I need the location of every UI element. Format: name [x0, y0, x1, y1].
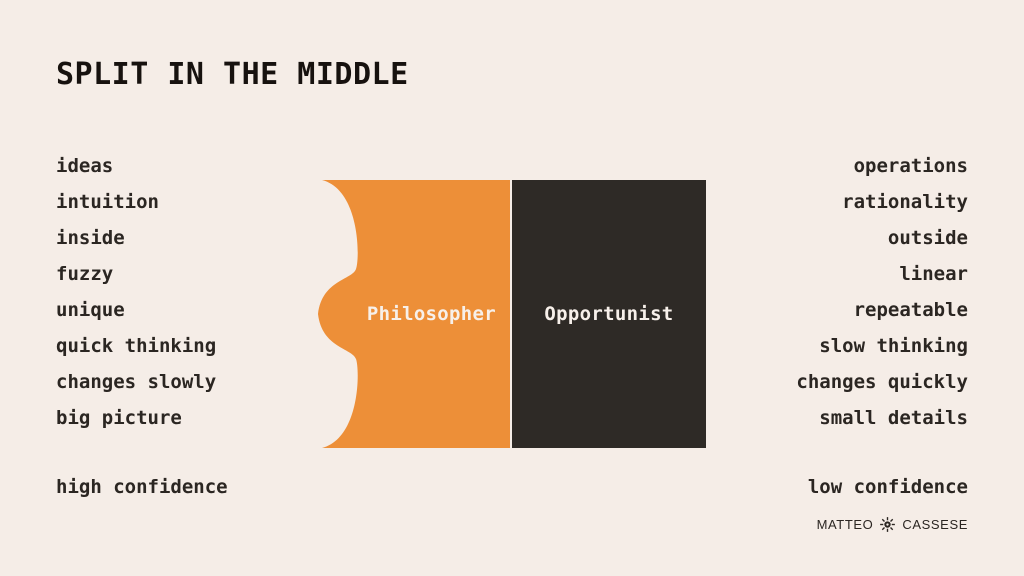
list-item: inside — [56, 220, 216, 256]
list-item: changes quickly — [796, 364, 968, 400]
philosopher-label: Philosopher — [367, 303, 496, 325]
sunburst-icon — [880, 517, 895, 532]
list-item: unique — [56, 292, 216, 328]
left-attribute-list: ideas intuition inside fuzzy unique quic… — [56, 148, 216, 436]
split-diagram: Philosopher Opportunist — [316, 180, 708, 448]
right-attribute-list: operations rationality outside linear re… — [796, 148, 968, 436]
list-item: intuition — [56, 184, 216, 220]
slide-canvas: SPLIT IN THE MIDDLE ideas intuition insi… — [0, 0, 1024, 576]
list-item: rationality — [796, 184, 968, 220]
list-item: slow thinking — [796, 328, 968, 364]
list-item: quick thinking — [56, 328, 216, 364]
brand-first-word: MATTEO — [817, 517, 874, 532]
list-item: operations — [796, 148, 968, 184]
list-item: linear — [796, 256, 968, 292]
list-item: changes slowly — [56, 364, 216, 400]
list-item: big picture — [56, 400, 216, 436]
opportunist-block: Opportunist — [512, 180, 706, 448]
philosopher-block: Philosopher — [316, 180, 510, 448]
brand-signature: MATTEO C — [817, 517, 968, 532]
page-title: SPLIT IN THE MIDDLE — [56, 56, 409, 94]
list-item: outside — [796, 220, 968, 256]
list-item: small details — [796, 400, 968, 436]
brand-second-word: CASSESE — [902, 517, 968, 532]
high-confidence-label: high confidence — [56, 474, 228, 500]
list-item: fuzzy — [56, 256, 216, 292]
opportunist-label: Opportunist — [544, 303, 673, 325]
list-item: repeatable — [796, 292, 968, 328]
low-confidence-label: low confidence — [808, 474, 968, 500]
list-item: ideas — [56, 148, 216, 184]
